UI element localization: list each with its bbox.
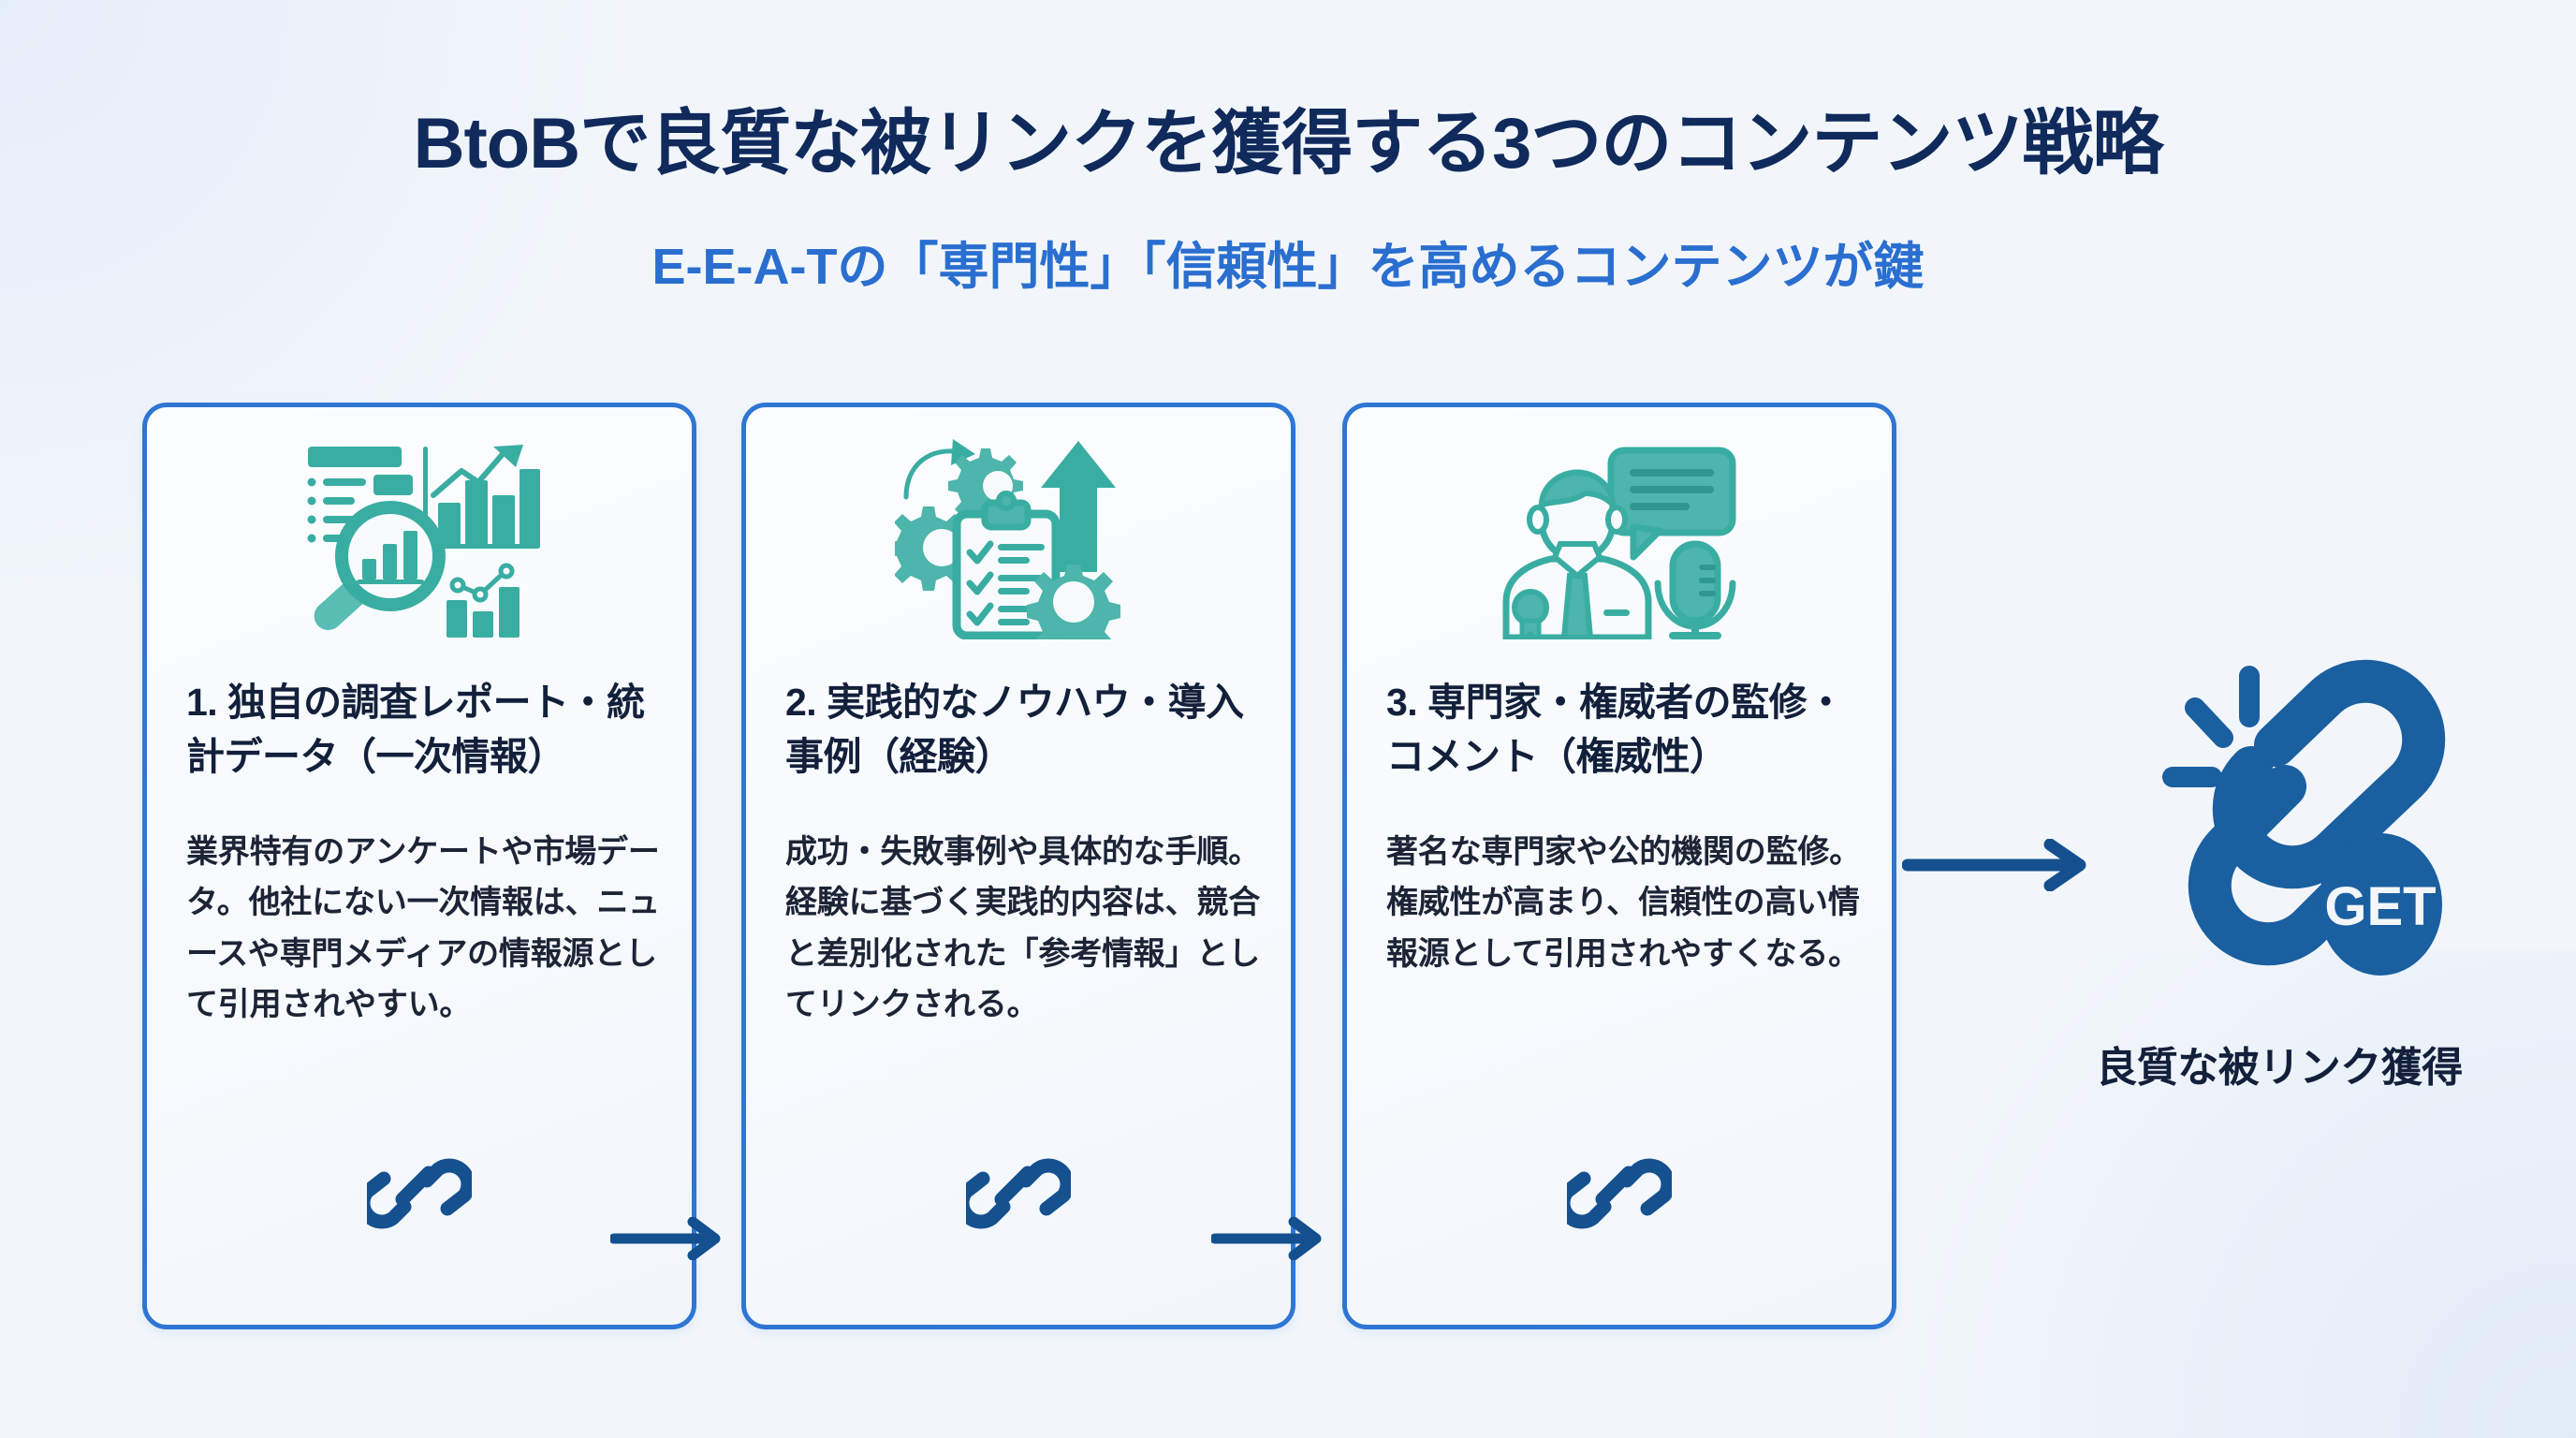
result-label: 良質な被リンク獲得	[2059, 1034, 2499, 1093]
result-block: GET 良質な被リンク獲得	[2059, 655, 2499, 1093]
strategy-card-1-heading: 1. 独自の調査レポート・統計データ（一次情報）	[186, 675, 666, 784]
strategy-card-1-body: 業界特有のアンケートや市場データ。他社にない一次情報は、ニュースや専門メディアの…	[186, 827, 667, 1031]
research-report-chart-magnifier-icon	[147, 420, 692, 653]
strategy-card-2[interactable]: 2. 実践的なノウハウ・導入事例（経験） 成功・失敗事例や具体的な手順。経験に基…	[741, 403, 1295, 1329]
get-badge-text: GET	[2324, 876, 2436, 937]
page-title: BtoBで良質な被リンクを獲得する3つのコンテンツ戦略	[0, 109, 2576, 180]
strategy-card-3[interactable]: 3. 専門家・権威者の監修・コメント（権威性） 著名な専門家や公的機関の監修。権…	[1342, 403, 1896, 1329]
chain-link-get-badge-icon: GET	[2092, 655, 2466, 1020]
chain-link-icon	[966, 1137, 1071, 1242]
expert-speech-microphone-icon	[1347, 420, 1892, 653]
chain-link-icon	[1567, 1137, 1672, 1242]
chain-link-icon	[367, 1137, 472, 1242]
strategy-card-2-heading: 2. 実践的なノウハウ・導入事例（経験）	[785, 675, 1265, 784]
arrow-right-icon	[1211, 1217, 1331, 1260]
checklist-gears-growth-icon	[746, 420, 1291, 653]
arrow-right-icon	[610, 1217, 730, 1260]
strategy-card-2-body: 成功・失敗事例や具体的な手順。経験に基づく実践的内容は、競合と差別化された「参考…	[785, 827, 1266, 1031]
strategy-card-1[interactable]: 1. 独自の調査レポート・統計データ（一次情報） 業界特有のアンケートや市場デー…	[142, 403, 696, 1329]
strategy-card-3-body: 著名な専門家や公的機関の監修。権威性が高まり、信頼性の高い情報源として引用されや…	[1386, 827, 1867, 979]
page-subtitle: E-E-A-Tの「専門性」「信頼性」を高めるコンテンツが鍵	[0, 242, 2576, 292]
strategy-card-3-heading: 3. 専門家・権威者の監修・コメント（権威性）	[1386, 675, 1866, 784]
